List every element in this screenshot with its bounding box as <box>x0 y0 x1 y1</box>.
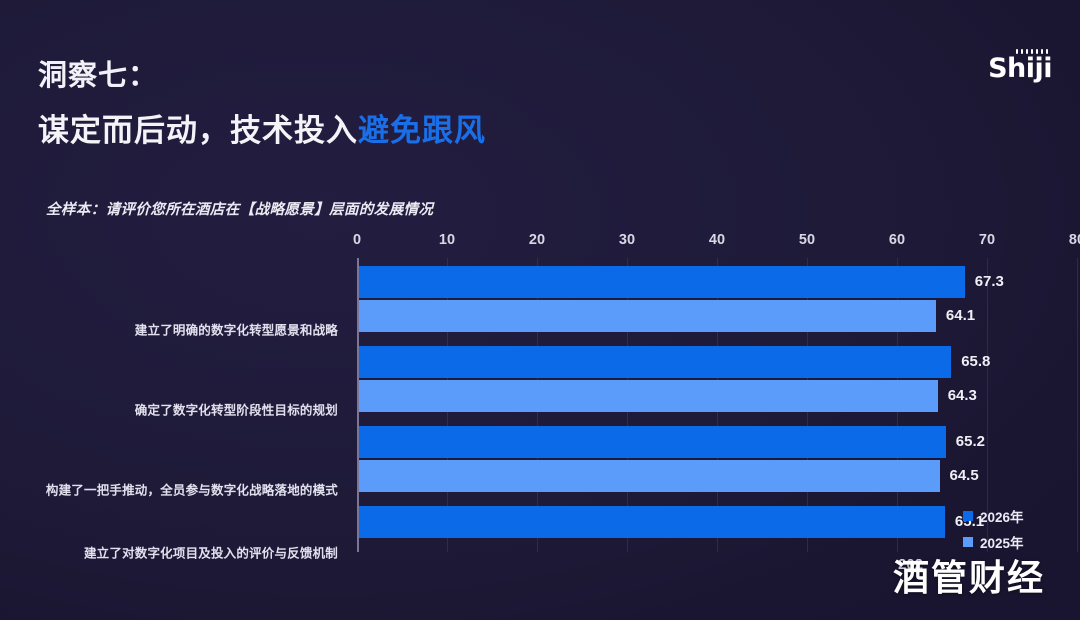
logo-text: Shiji <box>988 55 1052 82</box>
bar-2025年 <box>359 460 940 492</box>
x-tick-label: 80 <box>1069 232 1080 248</box>
title-block: 洞察七： 谋定而后动，技术投入避免跟风 <box>38 58 678 151</box>
legend-swatch-icon <box>963 511 973 521</box>
bar-value-label: 64.1 <box>946 300 975 332</box>
page-title: 洞察七： <box>38 58 678 94</box>
x-tick-label: 50 <box>799 232 815 248</box>
bar-2026年 <box>359 346 951 378</box>
legend-item[interactable]: 2026年 <box>963 506 1024 526</box>
category-label: 确定了数字化转型阶段性目标的规划 <box>135 400 338 419</box>
bar-value-label: 64.5 <box>950 460 979 492</box>
category-label: 建立了明确的数字化转型愿景和战略 <box>135 320 338 339</box>
logo-dots-icon <box>1014 49 1048 56</box>
bar-value-label: 65.8 <box>961 346 990 378</box>
bar-2026年 <box>359 506 945 538</box>
page-subtitle-headline: 谋定而后动，技术投入避免跟风 <box>38 112 678 151</box>
chart-legend: 2026年2025年 <box>963 506 1024 552</box>
legend-swatch-icon <box>963 537 973 547</box>
bar-value-label: 64.3 <box>948 380 977 412</box>
survey-question-note: 全样本：请评价您所在酒店在【战略愿景】层面的发展情况 <box>46 198 433 219</box>
category-label: 构建了一把手推动，全员参与数字化战略落地的模式 <box>46 480 338 499</box>
slide-canvas: Shiji 洞察七： 谋定而后动，技术投入避免跟风 全样本：请评价您所在酒店在【… <box>0 0 1080 620</box>
x-axis-tick-labels: 01020304050607080 <box>357 232 1080 254</box>
headline-prefix: 谋定而后动，技术投入 <box>38 113 358 148</box>
category-label: 建立了对数字化项目及投入的评价与反馈机制 <box>84 543 338 562</box>
bar-value-label: 65.2 <box>956 426 985 458</box>
x-tick-label: 70 <box>979 232 995 248</box>
x-tick-label: 10 <box>439 232 455 248</box>
headline-highlight: 避免跟风 <box>358 113 486 148</box>
y-axis-category-labels: 建立了明确的数字化转型愿景和战略确定了数字化转型阶段性目标的规划构建了一把手推动… <box>0 258 348 558</box>
x-tick-label: 0 <box>353 232 361 248</box>
shiji-logo: Shiji <box>966 48 1052 82</box>
gridline <box>1077 258 1078 552</box>
watermark: 酒管财经 <box>893 549 1045 601</box>
bar-value-label: 67.3 <box>975 266 1004 298</box>
bar-2025年 <box>359 300 936 332</box>
x-tick-label: 30 <box>619 232 635 248</box>
bar-2026年 <box>359 426 946 458</box>
bar-2026年 <box>359 266 965 298</box>
x-tick-label: 20 <box>529 232 545 248</box>
x-tick-label: 40 <box>709 232 725 248</box>
bar-2025年 <box>359 380 938 412</box>
x-tick-label: 60 <box>889 232 905 248</box>
legend-label: 2026年 <box>980 506 1024 526</box>
